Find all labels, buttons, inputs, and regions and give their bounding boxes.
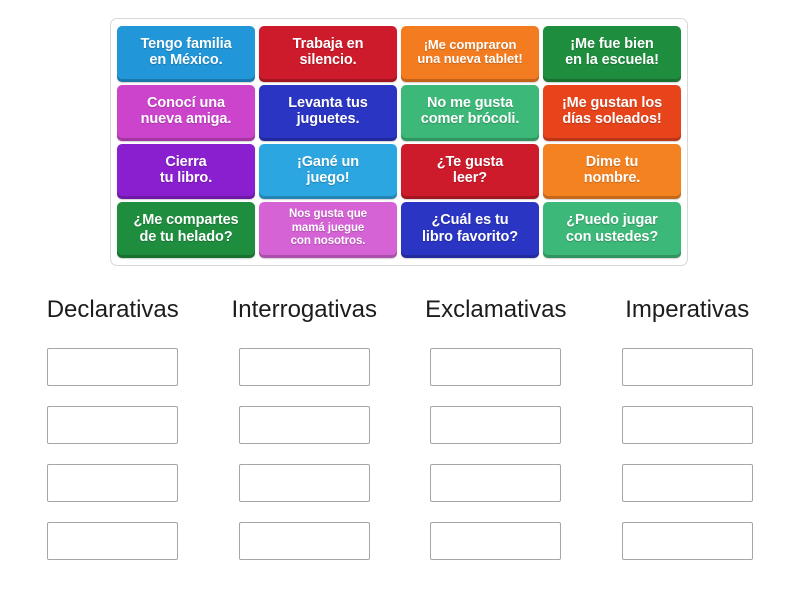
- sentence-tile[interactable]: ¿Cuál es tulibro favorito?: [401, 202, 539, 258]
- dropzone-slot[interactable]: [430, 522, 561, 560]
- sentence-tile-label: Dime tunombre.: [546, 154, 678, 186]
- sentence-tile-label: No me gustacomer brócoli.: [404, 95, 536, 127]
- sentence-tile[interactable]: ¿Puedo jugarcon ustedes?: [543, 202, 681, 258]
- dropzone-slot[interactable]: [47, 522, 178, 560]
- sentence-tiles-tray: Tengo familiaen México.Trabaja ensilenci…: [110, 18, 688, 266]
- sentence-tile-label: Trabaja ensilencio.: [262, 36, 394, 68]
- sentence-tile[interactable]: Cierratu libro.: [117, 144, 255, 200]
- dropzone-slot[interactable]: [430, 348, 561, 386]
- sentence-tile-label: ¿Puedo jugarcon ustedes?: [546, 212, 678, 244]
- dropzone-slot[interactable]: [239, 522, 370, 560]
- dropzone-slot[interactable]: [47, 464, 178, 502]
- sentence-tile-label: Conocí unanueva amiga.: [120, 95, 252, 127]
- sentence-tile-label: ¿Cuál es tulibro favorito?: [404, 212, 536, 244]
- sentence-tile[interactable]: Conocí unanueva amiga.: [117, 85, 255, 141]
- sentence-tile[interactable]: Nos gusta quemamá jueguecon nosotros.: [259, 202, 397, 258]
- dropzone-slot[interactable]: [239, 464, 370, 502]
- sentence-tile[interactable]: ¡Me gustan losdías soleados!: [543, 85, 681, 141]
- dropzone-grid: [40, 348, 760, 560]
- dropzone-slot[interactable]: [239, 406, 370, 444]
- sentence-tile-label: ¡Me compraronuna nueva tablet!: [404, 38, 536, 67]
- dropzone-slot[interactable]: [622, 522, 753, 560]
- sentence-tile[interactable]: Tengo familiaen México.: [117, 26, 255, 82]
- category-title: Exclamativas: [423, 296, 569, 324]
- sentence-tile-label: ¿Te gustaleer?: [404, 154, 536, 186]
- dropzone-slot[interactable]: [239, 348, 370, 386]
- sentence-tile-label: Tengo familiaen México.: [120, 36, 252, 68]
- sentence-tile[interactable]: No me gustacomer brócoli.: [401, 85, 539, 141]
- tile-grid: Tengo familiaen México.Trabaja ensilenci…: [117, 26, 681, 258]
- sentence-tile[interactable]: ¡Gané unjuego!: [259, 144, 397, 200]
- category-title: Interrogativas: [232, 296, 378, 324]
- dropzone-slot[interactable]: [622, 406, 753, 444]
- dropzone-slot[interactable]: [47, 348, 178, 386]
- sentence-tile[interactable]: ¿Te gustaleer?: [401, 144, 539, 200]
- category-headers: DeclarativasInterrogativasExclamativasIm…: [40, 296, 760, 324]
- sentence-tile[interactable]: Dime tunombre.: [543, 144, 681, 200]
- sentence-tile[interactable]: ¡Me fue bienen la escuela!: [543, 26, 681, 82]
- category-title: Imperativas: [615, 296, 761, 324]
- dropzone-slot[interactable]: [47, 406, 178, 444]
- dropzone-slot[interactable]: [430, 464, 561, 502]
- category-title: Declarativas: [40, 296, 186, 324]
- dropzone-slot[interactable]: [622, 464, 753, 502]
- sentence-tile-label: Cierratu libro.: [120, 154, 252, 186]
- sentence-tile-label: ¡Me fue bienen la escuela!: [546, 36, 678, 68]
- sentence-tile-label: ¡Gané unjuego!: [262, 154, 394, 186]
- sentence-tile-label: Levanta tusjuguetes.: [262, 95, 394, 127]
- dropzone-slot[interactable]: [622, 348, 753, 386]
- sentence-tile-label: ¡Me gustan losdías soleados!: [546, 95, 678, 127]
- sentence-tile-label: Nos gusta quemamá jueguecon nosotros.: [262, 208, 394, 249]
- dropzone-slot[interactable]: [430, 406, 561, 444]
- sentence-tile[interactable]: Levanta tusjuguetes.: [259, 85, 397, 141]
- sentence-tile[interactable]: Trabaja ensilencio.: [259, 26, 397, 82]
- sentence-tile[interactable]: ¿Me compartesde tu helado?: [117, 202, 255, 258]
- sentence-tile-label: ¿Me compartesde tu helado?: [120, 212, 252, 244]
- sentence-tile[interactable]: ¡Me compraronuna nueva tablet!: [401, 26, 539, 82]
